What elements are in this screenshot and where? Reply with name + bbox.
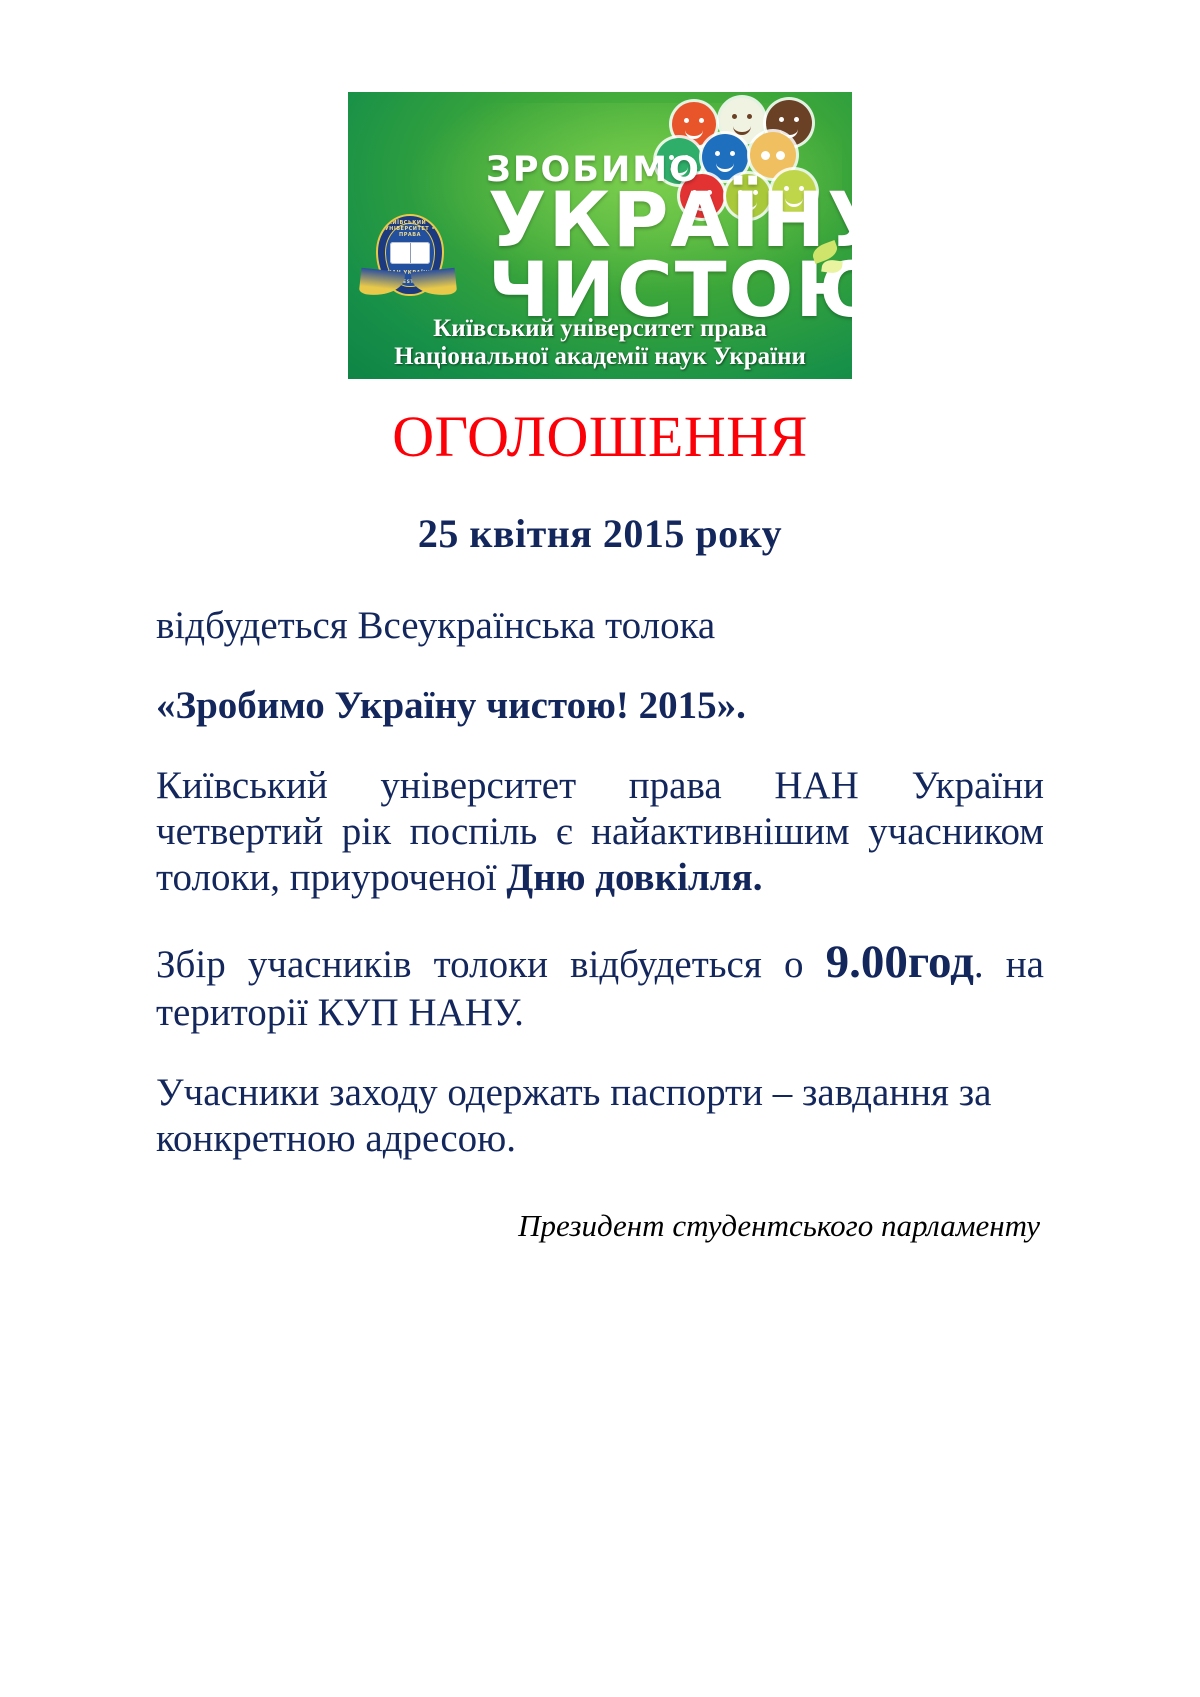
banner-wrapper: КИЇВСЬКИЙ • УНІВЕРСИТЕТ • ПРАВА НАН УКРА… [0,0,1200,379]
paragraph-campaign-name: «Зробимо Україну чистою! 2015». [156,683,1044,729]
page-title: ОГОЛОШЕННЯ [156,407,1044,468]
university-emblem-icon: КИЇВСЬКИЙ • УНІВЕРСИТЕТ • ПРАВА НАН УКРА… [360,214,456,314]
event-date: 25 квітня 2015 року [156,510,1044,557]
paragraph-passports: Учасники заходу одержать паспорти – завд… [156,1070,1044,1162]
open-book-icon [390,242,430,264]
smiley-face-icon [702,134,748,180]
banner-university-line2: Національної академії наук України [348,342,852,372]
emblem-text-top: КИЇВСЬКИЙ • УНІВЕРСИТЕТ • ПРАВА [378,220,442,238]
paragraph-gathering-time: Збір учасників толоки відбудеться о 9.00… [156,935,1044,1036]
emblem-wing-right [411,268,457,298]
environment-day-bold: Дню довкілля. [506,856,762,899]
paragraph-university-participation: Київський університет права НАН України … [156,763,1044,901]
emblem-wing-left [359,268,405,298]
announcement-page: КИЇВСЬКИЙ • УНІВЕРСИТЕТ • ПРАВА НАН УКРА… [0,0,1200,1697]
signature-line: Президент студентського парламенту [156,1208,1044,1244]
banner-university-line1: Київський університет права [348,314,852,344]
campaign-banner-image: КИЇВСЬКИЙ • УНІВЕРСИТЕТ • ПРАВА НАН УКРА… [348,92,852,379]
campaign-name-bold: «Зробимо Україну чистою! 2015». [156,684,746,727]
paragraph-event-intro: відбудеться Всеукраїнська толока [156,603,1044,649]
emblem-wings [360,270,456,310]
gathering-time-value: 9.00год [826,936,974,988]
document-body: ОГОЛОШЕННЯ 25 квітня 2015 року відбудеть… [156,379,1044,1244]
gathering-text: Збір учасників толоки відбудеться о [156,943,826,986]
